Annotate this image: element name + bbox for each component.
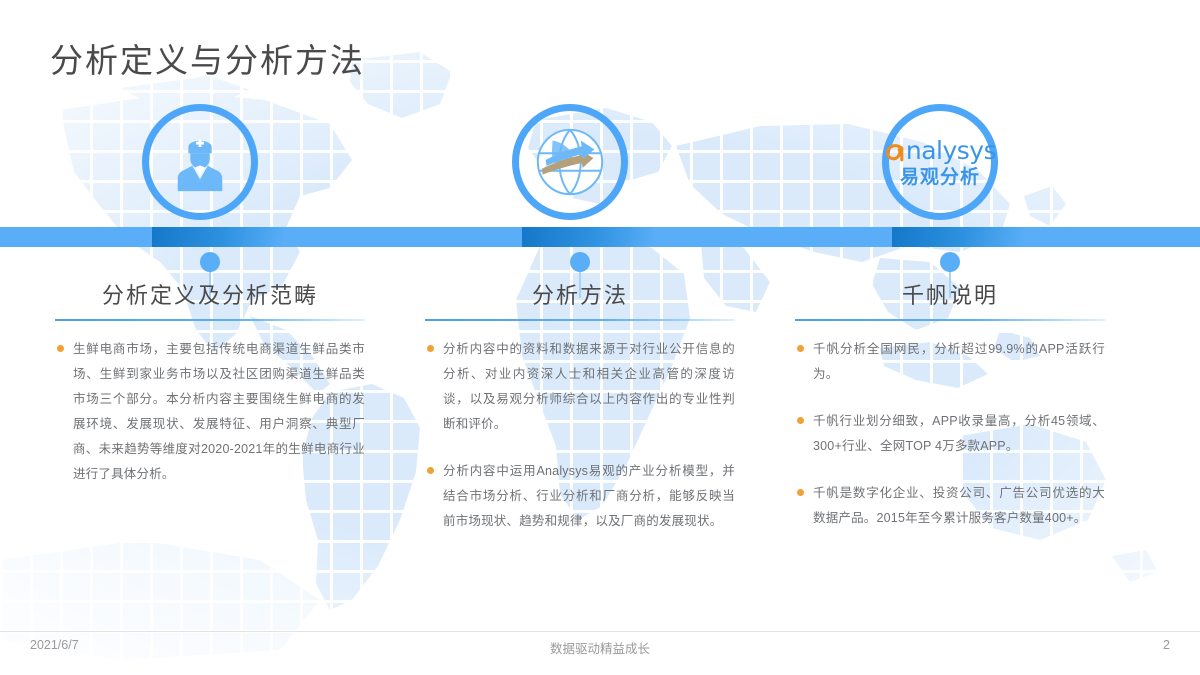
list-item: 千帆分析全国网民，分析超过99.9%的APP活跃行为。 xyxy=(795,337,1105,387)
page-title: 分析定义与分析方法 xyxy=(50,34,365,82)
analysys-wordmark: nalysys xyxy=(906,138,996,163)
band-shadow-3 xyxy=(892,227,1024,247)
bullet-dot-icon xyxy=(797,489,804,496)
list-item: 生鲜电商市场，主要包括传统电商渠道生鲜品类市场、生鲜到家业务市场以及社区团购渠道… xyxy=(55,337,365,487)
column-3-bullets: 千帆分析全国网民，分析超过99.9%的APP活跃行为。 千帆行业划分细致，APP… xyxy=(795,337,1105,531)
list-item: 千帆是数字化企业、投资公司、广告公司优选的大数据产品。2015年至今累计服务客户… xyxy=(795,481,1105,531)
bullet-dot-icon xyxy=(427,467,434,474)
bullet-text: 生鲜电商市场，主要包括传统电商渠道生鲜品类市场、生鲜到家业务市场以及社区团购渠道… xyxy=(73,337,365,487)
bullet-dot-icon xyxy=(57,345,64,352)
bullet-dot-icon xyxy=(797,345,804,352)
analysys-logo: nalysys 易观分析 xyxy=(884,138,996,187)
list-item: 分析内容中运用Analysys易观的产业分析模型，并结合市场分析、行业分析和厂商… xyxy=(425,459,735,534)
band-shadow-1 xyxy=(152,227,284,247)
footer-divider xyxy=(0,631,1200,632)
column-1-heading: 分析定义及分析范畴 xyxy=(55,278,365,319)
bullet-text: 千帆是数字化企业、投资公司、广告公司优选的大数据产品。2015年至今累计服务客户… xyxy=(813,481,1105,531)
slide-root: 分析定义与分析方法 xyxy=(0,0,1200,675)
bullet-text: 分析内容中的资料和数据来源于对行业公开信息的分析、对业内资深人士和相关企业高管的… xyxy=(443,337,735,437)
bullet-dot-icon xyxy=(797,417,804,424)
footer-tagline: 数据驱动精益成长 xyxy=(0,638,1200,657)
analysys-chinese-name: 易观分析 xyxy=(900,168,980,187)
column-2-heading: 分析方法 xyxy=(425,278,735,319)
bullet-text: 分析内容中运用Analysys易观的产业分析模型，并结合市场分析、行业分析和厂商… xyxy=(443,459,735,534)
list-item: 分析内容中的资料和数据来源于对行业公开信息的分析、对业内资深人士和相关企业高管的… xyxy=(425,337,735,437)
list-item: 千帆行业划分细致，APP收录量高，分析45领域、300+行业、全网TOP 4万多… xyxy=(795,409,1105,459)
column-1-rule xyxy=(55,319,365,321)
icon-ring-2 xyxy=(512,104,628,220)
bullet-dot-icon xyxy=(427,345,434,352)
footer-page-number: 2 xyxy=(1163,638,1170,652)
content-column-3: 千帆说明 千帆分析全国网民，分析超过99.9%的APP活跃行为。 千帆行业划分细… xyxy=(795,278,1105,553)
content-column-1: 分析定义及分析范畴 生鲜电商市场，主要包括传统电商渠道生鲜品类市场、生鲜到家业务… xyxy=(55,278,365,509)
column-2-rule xyxy=(425,319,735,321)
column-3-rule xyxy=(795,319,1105,321)
column-1-bullets: 生鲜电商市场，主要包括传统电商渠道生鲜品类市场、生鲜到家业务市场以及社区团购渠道… xyxy=(55,337,365,487)
content-column-2: 分析方法 分析内容中的资料和数据来源于对行业公开信息的分析、对业内资深人士和相关… xyxy=(425,278,735,556)
band-shadow-2 xyxy=(522,227,654,247)
analysys-a-mark xyxy=(884,141,905,165)
icon-ring-3: nalysys 易观分析 xyxy=(882,104,998,220)
bullet-text: 千帆分析全国网民，分析超过99.9%的APP活跃行为。 xyxy=(813,337,1105,387)
column-3-heading: 千帆说明 xyxy=(795,278,1105,319)
doctor-icon xyxy=(169,131,231,193)
column-2-bullets: 分析内容中的资料和数据来源于对行业公开信息的分析、对业内资深人士和相关企业高管的… xyxy=(425,337,735,534)
icon-ring-1 xyxy=(142,104,258,220)
globe-arrow-icon xyxy=(531,123,609,201)
bullet-text: 千帆行业划分细致，APP收录量高，分析45领域、300+行业、全网TOP 4万多… xyxy=(813,409,1105,459)
